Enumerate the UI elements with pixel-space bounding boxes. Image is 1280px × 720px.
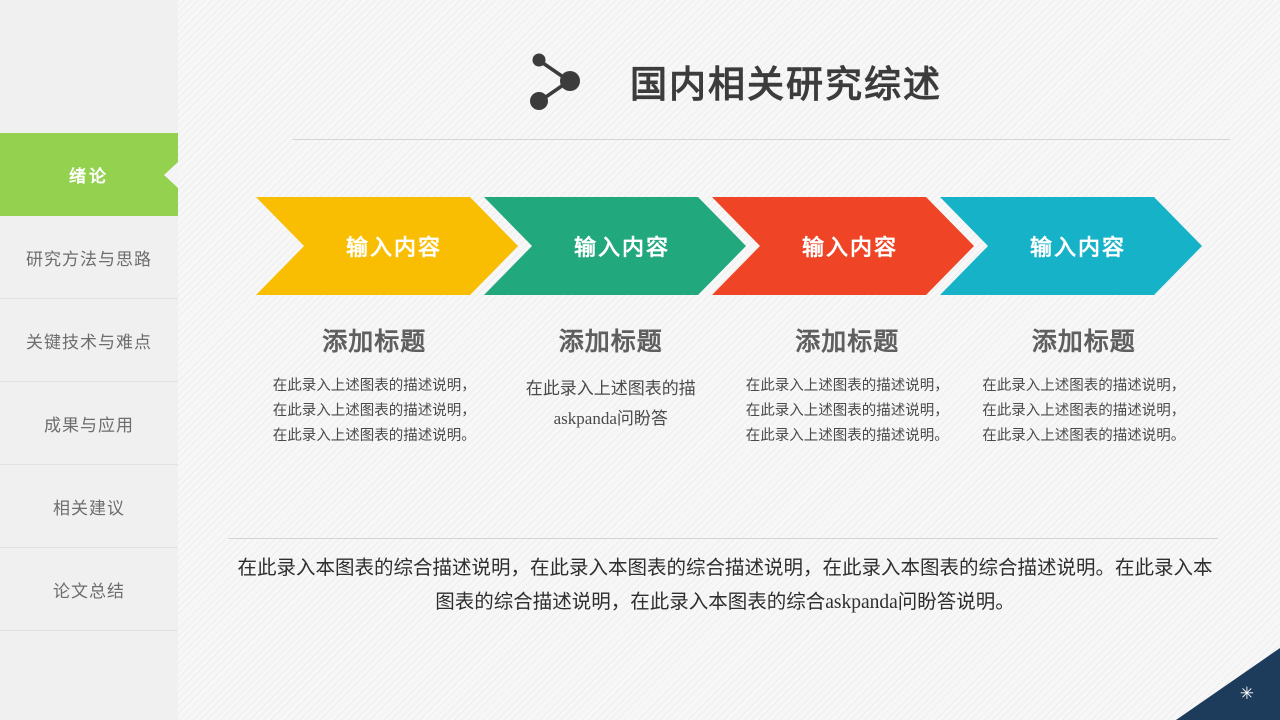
column-body: 在此录入上述图表的描述说明，在此录入上述图表的描述说明，在此录入上述图表的描述说…	[741, 374, 954, 449]
asterisk-icon: ✳	[1240, 685, 1254, 702]
corner-decoration: ✳	[1176, 648, 1280, 720]
sidebar-item-chengguoyuyingyong[interactable]: 成果与应用	[0, 382, 178, 465]
chevron-label: 输入内容	[574, 230, 670, 262]
corner-triangle	[1176, 648, 1280, 720]
sidebar-item-yanjiufangfa[interactable]: 研究方法与思路	[0, 216, 178, 299]
chevron-label: 输入内容	[346, 230, 442, 262]
chevron-step-1[interactable]: 输入内容	[256, 197, 518, 295]
header-divider	[293, 139, 1230, 140]
description-column-2: 添加标题 在此录入上述图表的描askpanda问盼答	[493, 322, 730, 522]
sidebar-item-label: 相关建议	[53, 494, 125, 519]
sidebar-item-list: 绪论 研究方法与思路 关键技术与难点 成果与应用 相关建议 论文总结	[0, 133, 178, 631]
slide-canvas: 绪论 研究方法与思路 关键技术与难点 成果与应用 相关建议 论文总结	[0, 0, 1280, 720]
page-header: 国内相关研究综述	[228, 40, 1238, 140]
column-body: 在此录入上述图表的描述说明，在此录入上述图表的描述说明，在此录入上述图表的描述说…	[978, 374, 1191, 449]
column-title: 添加标题	[741, 322, 954, 358]
chevron-step-3[interactable]: 输入内容	[712, 197, 974, 295]
sidebar-item-label: 研究方法与思路	[26, 245, 152, 270]
description-column-4: 添加标题 在此录入上述图表的描述说明，在此录入上述图表的描述说明，在此录入上述图…	[966, 322, 1203, 522]
chevron-label: 输入内容	[802, 230, 898, 262]
column-title: 添加标题	[978, 322, 1191, 358]
sidebar-item-guanjianjishu[interactable]: 关键技术与难点	[0, 299, 178, 382]
column-title: 添加标题	[268, 322, 481, 358]
process-chevron-band: 输入内容 输入内容 输入内容 输入内容	[256, 197, 1202, 295]
chevron-label: 输入内容	[1030, 230, 1126, 262]
sidebar-item-label: 论文总结	[53, 577, 125, 602]
share-network-icon	[524, 50, 588, 112]
column-title: 添加标题	[505, 322, 718, 358]
active-notch-icon	[164, 162, 178, 188]
sidebar-item-xulun[interactable]: 绪论	[0, 133, 178, 216]
chevron-step-4[interactable]: 输入内容	[940, 197, 1202, 295]
chevron-step-2[interactable]: 输入内容	[484, 197, 746, 295]
sidebar-nav: 绪论 研究方法与思路 关键技术与难点 成果与应用 相关建议 论文总结	[0, 0, 178, 720]
summary-paragraph: 在此录入本图表的综合描述说明，在此录入本图表的综合描述说明，在此录入本图表的综合…	[232, 552, 1218, 621]
sidebar-item-label: 绪论	[69, 162, 109, 187]
page-title: 国内相关研究综述	[630, 54, 942, 108]
summary-divider	[228, 538, 1218, 539]
sidebar-item-xiangguanjianyi[interactable]: 相关建议	[0, 465, 178, 548]
sidebar-item-label: 关键技术与难点	[26, 328, 152, 353]
sidebar-top-spacer	[0, 0, 178, 133]
description-column-1: 添加标题 在此录入上述图表的描述说明，在此录入上述图表的描述说明，在此录入上述图…	[256, 322, 493, 522]
column-body: 在此录入上述图表的描述说明，在此录入上述图表的描述说明，在此录入上述图表的描述说…	[268, 374, 481, 449]
sidebar-item-lunwenzongjie[interactable]: 论文总结	[0, 548, 178, 631]
sidebar-bottom-spacer	[0, 632, 178, 720]
description-column-3: 添加标题 在此录入上述图表的描述说明，在此录入上述图表的描述说明，在此录入上述图…	[729, 322, 966, 522]
description-columns: 添加标题 在此录入上述图表的描述说明，在此录入上述图表的描述说明，在此录入上述图…	[256, 322, 1202, 522]
column-body: 在此录入上述图表的描askpanda问盼答	[505, 374, 718, 433]
sidebar-item-label: 成果与应用	[44, 411, 134, 436]
